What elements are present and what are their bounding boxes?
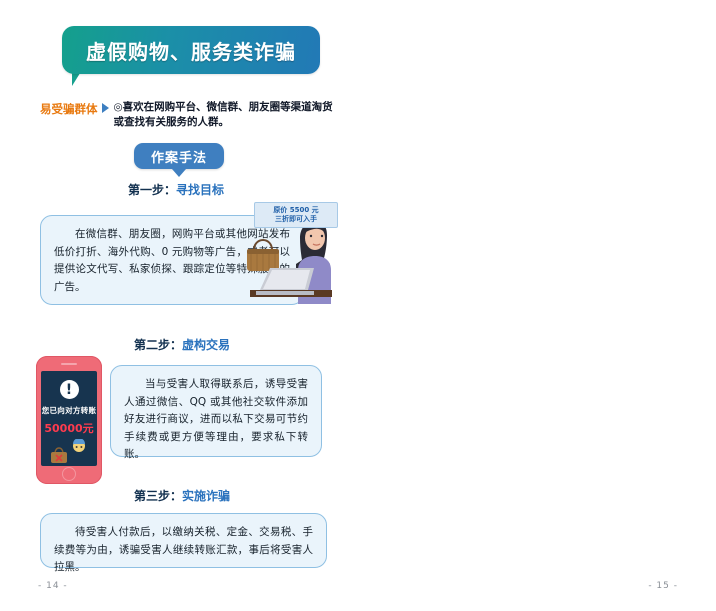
infographic-page: 虚假购物、服务类诈骗 易受骗群体 ◎喜欢在网购平台、微信群、朋友圈等渠道淘货或查… xyxy=(0,0,716,611)
price-tag-line-2: 三折即可入手 xyxy=(275,215,317,224)
step-1-prefix: 第一步： xyxy=(128,183,176,197)
sad-face-icon xyxy=(73,439,85,452)
page-number-left: - 14 - xyxy=(38,581,68,591)
phone-home-button xyxy=(62,467,76,481)
price-tag: 原价 5500 元 三折即可入手 xyxy=(254,202,338,228)
phone-speaker xyxy=(61,363,77,365)
victim-group-row: 易受骗群体 ◎喜欢在网购平台、微信群、朋友圈等渠道淘货或查找有关服务的人群。 xyxy=(40,100,340,130)
main-title-text: 虚假购物、服务类诈骗 xyxy=(86,36,296,65)
step-2-body: 当与受害人取得联系后，诱导受害人通过微信、QQ 或其他社交软件添加好友进行商议，… xyxy=(124,376,308,464)
price-tag-line-1: 原价 5500 元 xyxy=(273,206,318,215)
step-2-name: 虚构交易 xyxy=(182,338,230,352)
right-column: 典型案例 李某在网上看到出售茅台酒的广告，遂按照对方留下的联系方式添加为微信好友… xyxy=(358,0,716,611)
step-3-body: 待受害人付款后，以缴纳关税、定金、交易税、手续费等为由，诱骗受害人继续转账汇款，… xyxy=(54,524,313,577)
method-heading-text: 作案手法 xyxy=(151,147,207,166)
woman-laptop-illustration: 原价 5500 元 三折即可入手 xyxy=(236,212,346,304)
handbag-icon xyxy=(247,240,279,271)
left-column: 虚假购物、服务类诈骗 易受骗群体 ◎喜欢在网购平台、微信群、朋友圈等渠道淘货或查… xyxy=(0,0,358,611)
phone-illustration: ! 您已向对方转账 50000元 xyxy=(36,356,102,484)
method-heading-tail xyxy=(172,169,186,177)
step-2-title: 第二步：虚构交易 xyxy=(134,336,230,353)
phone-screen: ! 您已向对方转账 50000元 xyxy=(41,371,97,466)
handbag-small-icon xyxy=(51,448,67,463)
phone-bag-face-icons xyxy=(46,439,92,465)
step-1-name: 寻找目标 xyxy=(176,183,224,197)
victim-group-label: 易受骗群体 xyxy=(40,100,98,117)
phone-transfer-amount: 50000元 xyxy=(44,420,93,436)
step-2-prefix: 第二步： xyxy=(134,338,182,352)
step-3-name: 实施诈骗 xyxy=(182,489,230,503)
alert-exclamation-icon: ! xyxy=(60,380,79,399)
step-3-title: 第三步：实施诈骗 xyxy=(134,487,230,504)
step-2-box: 当与受害人取得联系后，诱导受害人通过微信、QQ 或其他社交软件添加好友进行商议，… xyxy=(110,365,322,457)
step-3-box: 待受害人付款后，以缴纳关税、定金、交易税、手续费等为由，诱骗受害人继续转账汇款，… xyxy=(40,513,327,568)
main-title-banner: 虚假购物、服务类诈骗 xyxy=(62,26,320,74)
method-heading-pill: 作案手法 xyxy=(134,143,224,169)
triangle-right-icon xyxy=(102,103,110,113)
victim-group-text: ◎喜欢在网购平台、微信群、朋友圈等渠道淘货或查找有关服务的人群。 xyxy=(114,100,341,130)
page-number-right: - 15 - xyxy=(648,581,678,591)
phone-transfer-label: 您已向对方转账 xyxy=(42,405,97,416)
step-3-prefix: 第三步： xyxy=(134,489,182,503)
step-1-title: 第一步：寻找目标 xyxy=(128,181,224,198)
